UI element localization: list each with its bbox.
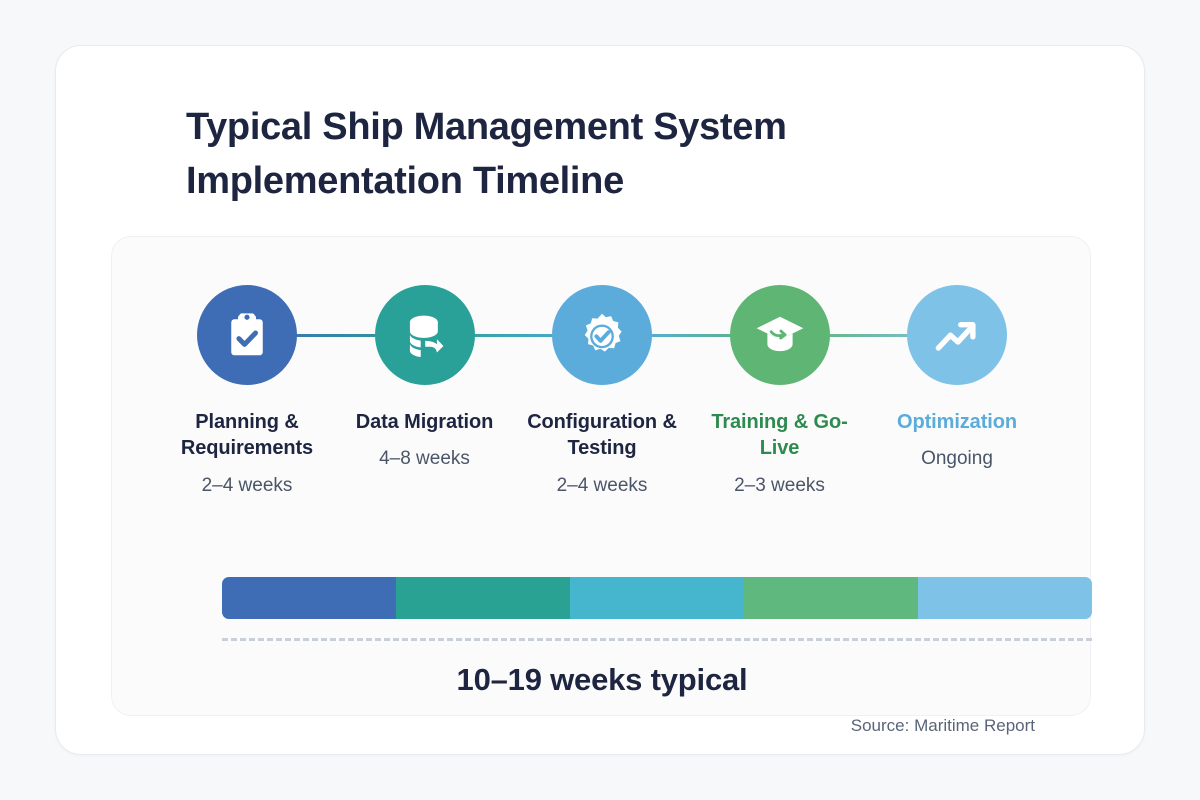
- step-label: Configuration & Testing: [522, 409, 682, 462]
- step-label: Data Migration: [356, 409, 494, 435]
- database-export-icon: [398, 308, 452, 362]
- step-duration: 2–3 weeks: [734, 475, 825, 498]
- timeline-step-optimization[interactable]: Optimization Ongoing: [877, 237, 1037, 498]
- progress-segment-planning: [222, 577, 396, 619]
- progress-segment-training: [744, 577, 918, 619]
- timeline-step-configuration[interactable]: Configuration & Testing 2–4 weeks: [522, 237, 682, 498]
- timeline-progress-bar: [222, 577, 1092, 619]
- step-label: Optimization: [897, 409, 1017, 435]
- infographic-card: Typical Ship Management System Implement…: [55, 45, 1145, 755]
- infographic-page: Typical Ship Management System Implement…: [0, 0, 1200, 800]
- graduation-cap-icon: [752, 307, 808, 363]
- source-attribution: Source: Maritime Report: [851, 716, 1035, 736]
- step-icon-circle: [907, 285, 1007, 385]
- step-icon-circle: [730, 285, 830, 385]
- step-icon-circle: [375, 285, 475, 385]
- total-duration-label: 10–19 weeks typical: [112, 662, 1092, 698]
- step-label: Planning & Requirements: [167, 409, 327, 462]
- progress-segment-configuration: [570, 577, 744, 619]
- step-duration: 4–8 weeks: [379, 448, 470, 471]
- timeline-step-data-migration[interactable]: Data Migration 4–8 weeks: [345, 237, 505, 498]
- timeline-steps: Planning & Requirements 2–4 weeks: [112, 237, 1092, 498]
- clipboard-check-icon: [220, 308, 274, 362]
- step-duration: Ongoing: [921, 448, 993, 471]
- step-label: Training & Go-Live: [700, 409, 860, 462]
- progress-segment-optimization: [918, 577, 1092, 619]
- progress-segment-data-migration: [396, 577, 570, 619]
- timeline: Planning & Requirements 2–4 weeks: [112, 237, 1092, 527]
- page-title: Typical Ship Management System Implement…: [186, 101, 1046, 209]
- dashed-divider: [222, 638, 1092, 641]
- step-duration: 2–4 weeks: [202, 475, 293, 498]
- step-icon-circle: [552, 285, 652, 385]
- step-icon-circle: [197, 285, 297, 385]
- trending-up-icon: [929, 307, 985, 363]
- timeline-step-training[interactable]: Training & Go-Live 2–3 weeks: [700, 237, 860, 498]
- timeline-panel: Planning & Requirements 2–4 weeks: [111, 236, 1091, 716]
- gear-check-icon: [574, 307, 630, 363]
- step-duration: 2–4 weeks: [557, 475, 648, 498]
- timeline-step-planning[interactable]: Planning & Requirements 2–4 weeks: [167, 237, 327, 498]
